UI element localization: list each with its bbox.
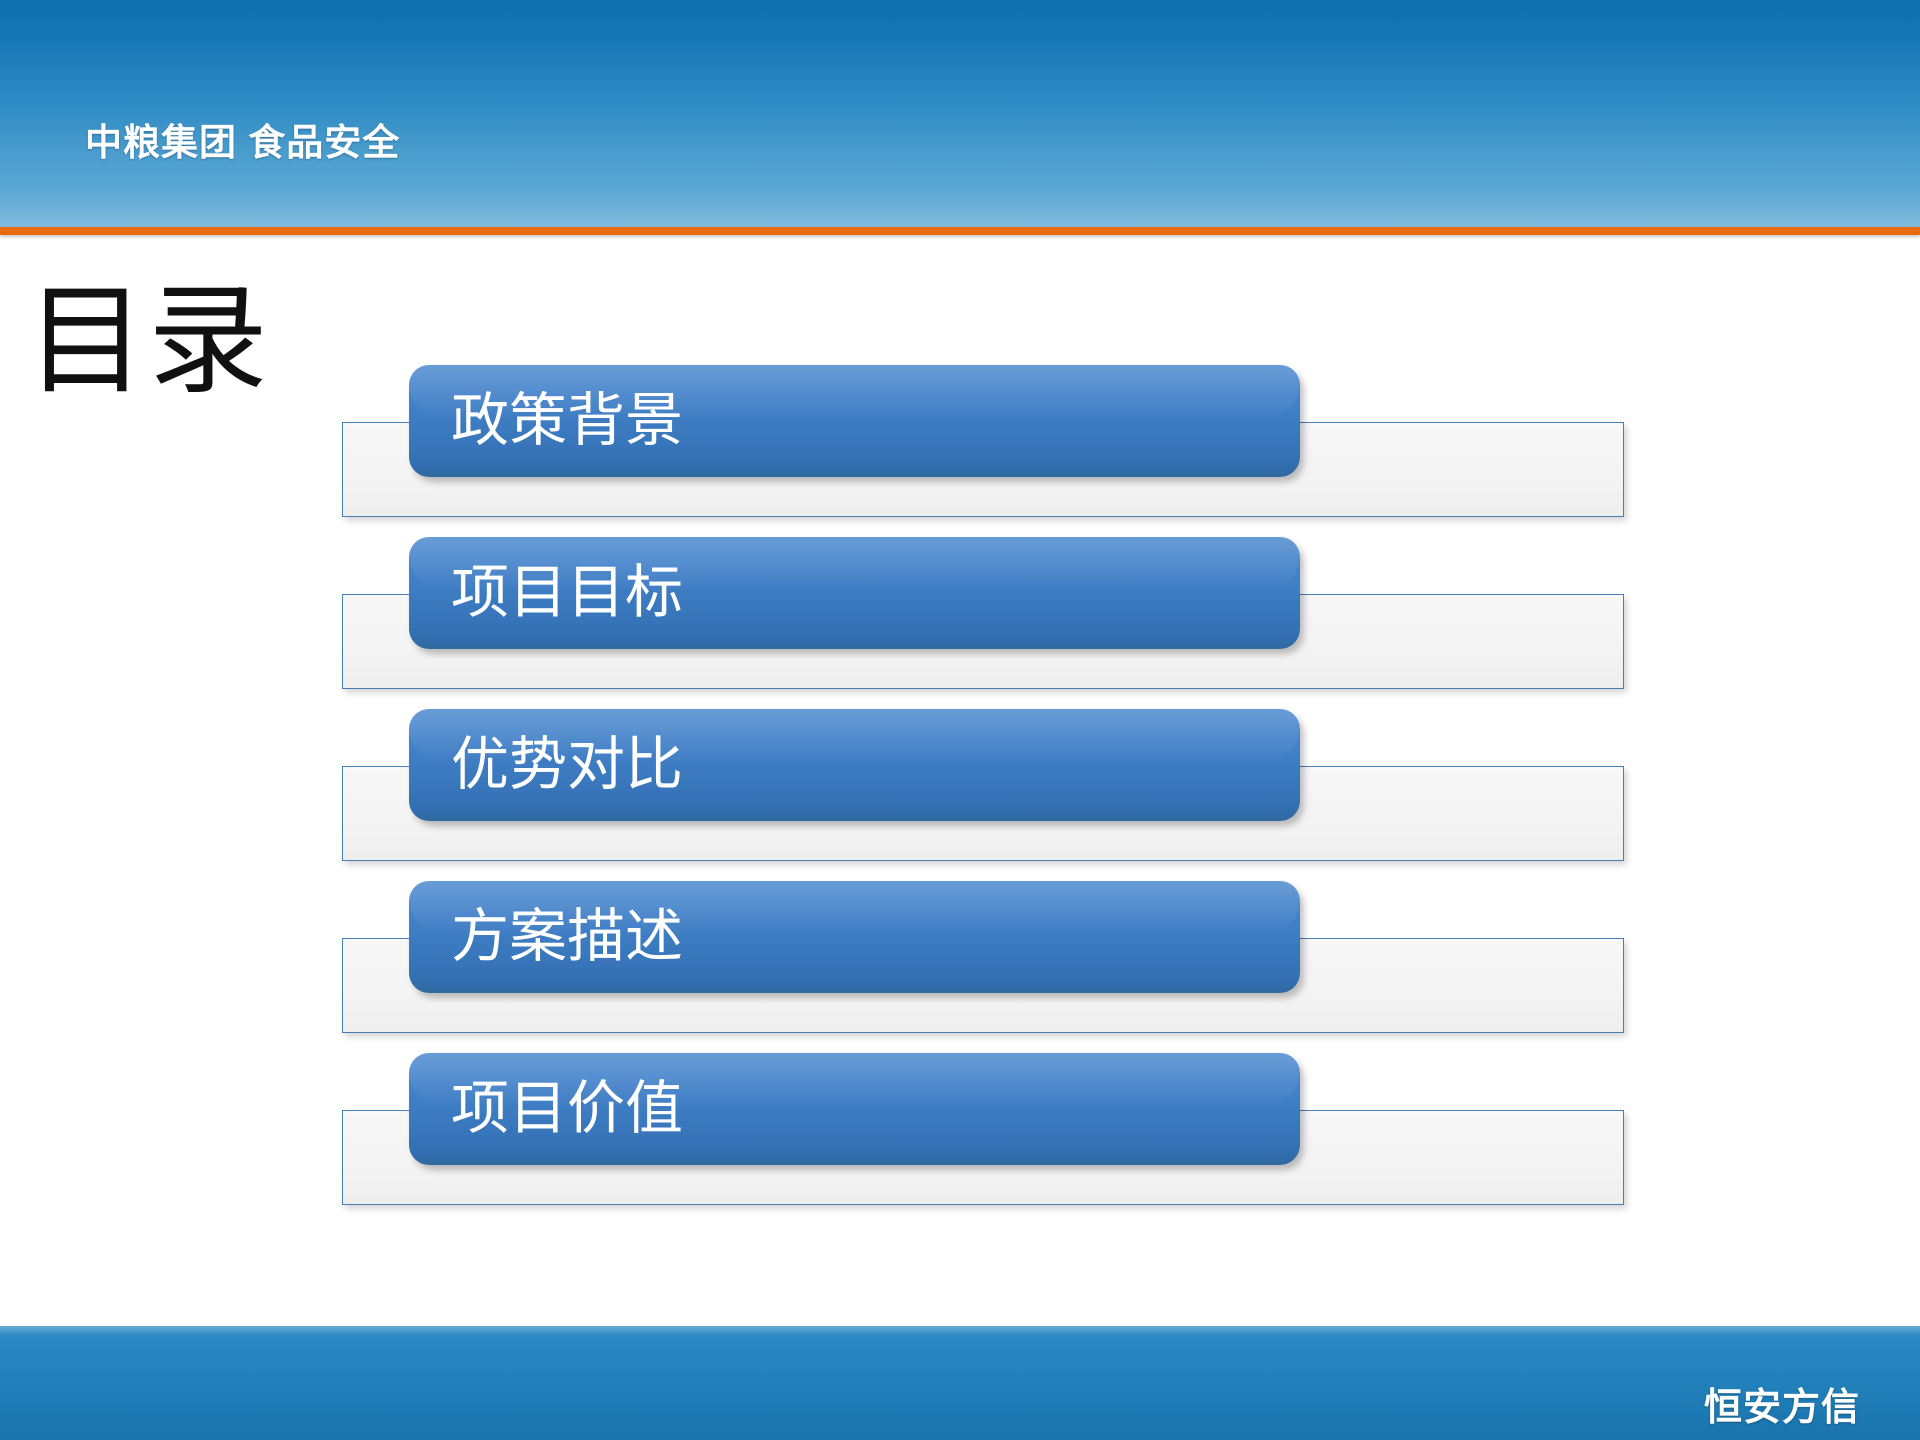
agenda-item-4[interactable]: 方案描述 xyxy=(0,881,1920,1053)
slide-footer-band: 恒安方信 xyxy=(0,1326,1920,1440)
agenda-chip[interactable]: 政策背景 xyxy=(409,365,1300,477)
agenda-list: 政策背景 项目目标 优势对比 方案描述 项目价值 xyxy=(0,0,1920,1440)
agenda-chip[interactable]: 项目价值 xyxy=(409,1053,1300,1165)
agenda-chip[interactable]: 方案描述 xyxy=(409,881,1300,993)
footer-brand: 恒安方信 xyxy=(1704,1376,1860,1431)
agenda-item-label: 方案描述 xyxy=(451,908,683,966)
header-title: 中粮集团 食品安全 xyxy=(85,112,400,166)
agenda-chip[interactable]: 项目目标 xyxy=(409,537,1300,649)
agenda-item-3[interactable]: 优势对比 xyxy=(0,709,1920,881)
agenda-item-label: 政策背景 xyxy=(451,392,683,450)
agenda-chip[interactable]: 优势对比 xyxy=(409,709,1300,821)
agenda-item-1[interactable]: 政策背景 xyxy=(0,365,1920,537)
agenda-item-2[interactable]: 项目目标 xyxy=(0,537,1920,709)
agenda-item-5[interactable]: 项目价值 xyxy=(0,1053,1920,1225)
agenda-item-label: 项目价值 xyxy=(451,1080,683,1138)
agenda-item-label: 优势对比 xyxy=(451,736,683,794)
slide-canvas: 中粮集团 食品安全 目录 政策背景 项目目标 优势对比 方案描述 xyxy=(0,0,1920,1440)
agenda-item-label: 项目目标 xyxy=(451,564,683,622)
